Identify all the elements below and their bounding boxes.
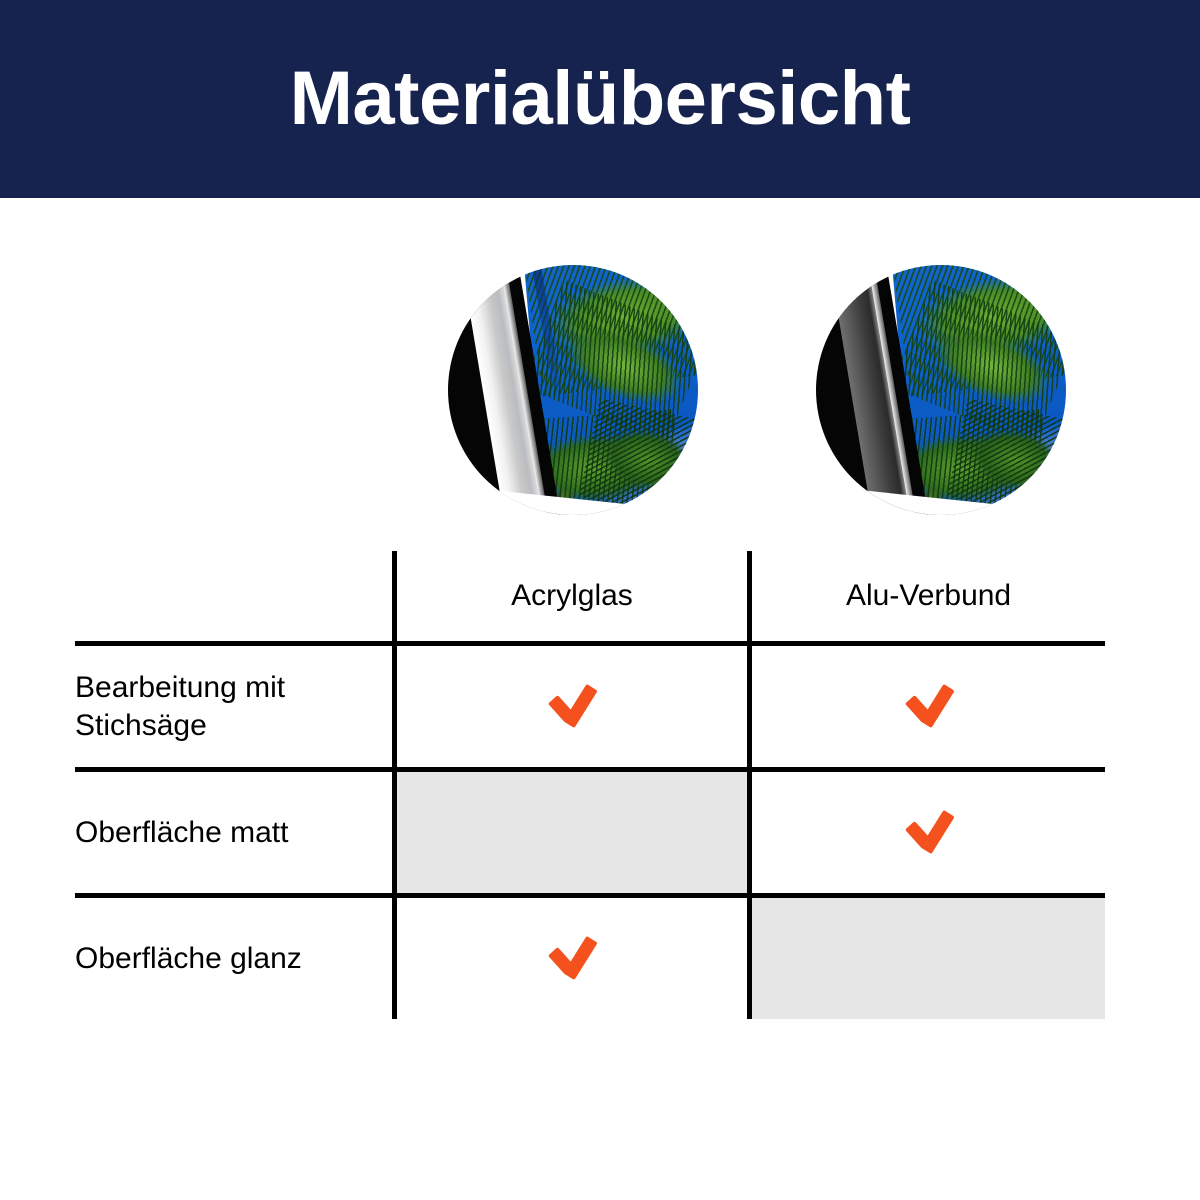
- row-label-bearbeitung: Bearbeitung mit Stichsäge: [75, 644, 394, 770]
- cell-matt-acrylglas: [394, 770, 749, 896]
- sample-image-aluverbund: [816, 265, 1066, 515]
- check-icon: [901, 683, 957, 725]
- column-header-acrylglas: Acrylglas: [394, 551, 749, 644]
- cell-matt-aluverbund: [750, 770, 1105, 896]
- row-label-line1: Oberfläche glanz: [75, 940, 392, 977]
- row-label-line1: Oberfläche matt: [75, 814, 392, 851]
- panel-edge-acrylglas: [448, 265, 698, 515]
- page-header-band: Materialübersicht: [0, 0, 1200, 198]
- check-icon: [544, 683, 600, 725]
- cell-glanz-aluverbund: [750, 896, 1105, 1020]
- row-label-oberflaeche-matt: Oberfläche matt: [75, 770, 394, 896]
- table-row: Oberfläche glanz: [75, 896, 1105, 1020]
- cell-glanz-acrylglas: [394, 896, 749, 1020]
- table-row: Oberfläche matt: [75, 770, 1105, 896]
- panel-edge-aluverbund: [816, 265, 1066, 515]
- sample-image-acrylglas: [448, 265, 698, 515]
- cell-bearbeitung-acrylglas: [394, 644, 749, 770]
- page-title: Materialübersicht: [290, 61, 911, 137]
- palm-tree-photo-acrylglas: [448, 265, 698, 515]
- table-row: Bearbeitung mit Stichsäge: [75, 644, 1105, 770]
- row-label-line1: Bearbeitung mit: [75, 669, 392, 706]
- column-header-aluverbund: Alu-Verbund: [750, 551, 1105, 644]
- cell-bearbeitung-aluverbund: [750, 644, 1105, 770]
- material-comparison-table: Acrylglas Alu-Verbund Bearbeitung mit St…: [75, 551, 1105, 1019]
- row-label-line2: Stichsäge: [75, 707, 392, 744]
- palm-tree-photo-aluverbund: [816, 265, 1066, 515]
- column-header-feature: [75, 551, 394, 644]
- check-icon: [544, 935, 600, 977]
- table-header-row: Acrylglas Alu-Verbund: [75, 551, 1105, 644]
- row-label-oberflaeche-glanz: Oberfläche glanz: [75, 896, 394, 1020]
- check-icon: [901, 809, 957, 851]
